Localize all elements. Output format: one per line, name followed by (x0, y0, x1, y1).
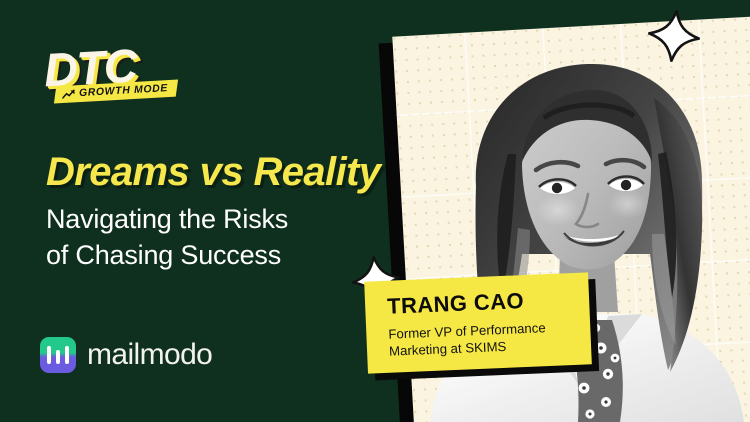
speaker-card: TRANG CAO Former VP of Performance Marke… (364, 272, 592, 373)
mailmodo-bars-icon (40, 337, 76, 373)
speaker-role: Former VP of Performance Marketing at SK… (388, 318, 575, 361)
four-point-star-icon (645, 7, 702, 64)
mailmodo-logo: mailmodo (40, 337, 212, 373)
page-subtitle: Navigating the Risks of Chasing Success (46, 202, 288, 274)
page-subtitle-line-1: Navigating the Risks (46, 202, 288, 238)
dtc-growth-mode-logo: DTC GROWTH MODE (44, 40, 214, 115)
speaker-name: TRANG CAO (387, 288, 574, 318)
mailmodo-wordmark: mailmodo (87, 338, 212, 372)
page-title: Dreams vs Reality (46, 152, 380, 192)
page-subtitle-line-2: of Chasing Success (46, 238, 288, 274)
growth-mode-label: GROWTH MODE (79, 83, 169, 99)
webinar-promo-graphic: TRANG CAO Former VP of Performance Marke… (0, 0, 750, 422)
speaker-card-surface: TRANG CAO Former VP of Performance Marke… (364, 272, 592, 373)
trend-arrow-up-icon (62, 89, 75, 99)
